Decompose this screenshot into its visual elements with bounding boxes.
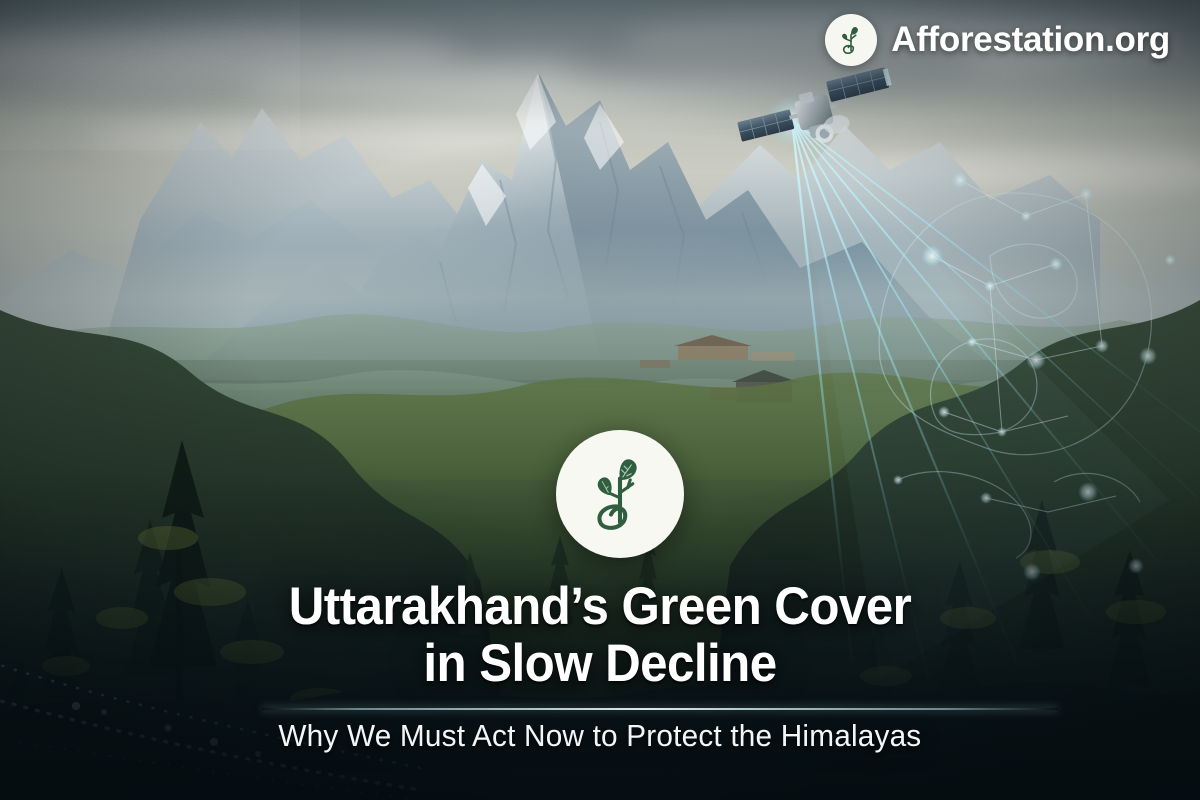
page-subtitle: Why We Must Act Now to Protect the Himal… (0, 718, 1200, 754)
subtitle-text: Why We Must Act Now to Protect the Himal… (279, 718, 922, 754)
brand-lockup[interactable]: Afforestation.org (825, 14, 1170, 66)
brand-logo-badge (825, 14, 877, 66)
center-emblem-badge (556, 430, 684, 558)
brand-name: Afforestation.org (891, 20, 1170, 60)
sapling-seedling-icon (579, 453, 661, 535)
title-line-2: in Slow Decline (42, 635, 1158, 692)
satellite-icon (735, 55, 900, 185)
page-title: Uttarakhand’s Green Cover in Slow Declin… (0, 578, 1200, 692)
sapling-seedling-icon (834, 23, 868, 57)
poster-canvas: Afforestation.org (0, 0, 1200, 800)
title-line-1: Uttarakhand’s Green Cover (42, 578, 1158, 635)
headline-divider (262, 708, 1058, 710)
